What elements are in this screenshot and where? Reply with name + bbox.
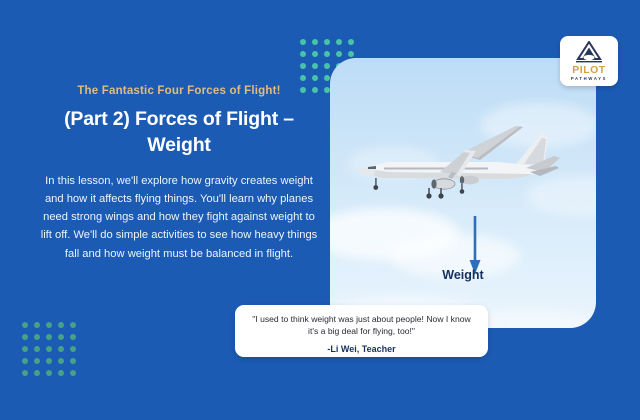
- dot: [46, 346, 52, 352]
- dot: [324, 51, 330, 57]
- testimonial-author: -Li Wei, Teacher: [249, 344, 474, 354]
- dot: [300, 75, 306, 81]
- dot: [22, 358, 28, 364]
- airplane-icon: [348, 120, 560, 206]
- dot: [324, 39, 330, 45]
- dot: [22, 370, 28, 376]
- weight-annotation-label: Weight: [330, 268, 596, 282]
- dot: [58, 346, 64, 352]
- dot: [22, 322, 28, 328]
- lesson-description: In this lesson, we'll explore how gravit…: [38, 172, 320, 263]
- dot: [312, 51, 318, 57]
- dot: [46, 334, 52, 340]
- brand-logo-badge[interactable]: PILOT PATHWAYS: [560, 36, 618, 86]
- dot: [300, 51, 306, 57]
- text-column: The Fantastic Four Forces of Flight! (Pa…: [38, 84, 320, 263]
- dot: [70, 358, 76, 364]
- dot: [34, 322, 40, 328]
- mountain-triangle-icon: [574, 41, 604, 64]
- dot: [58, 370, 64, 376]
- dot: [46, 358, 52, 364]
- dot: [58, 334, 64, 340]
- dot: [22, 334, 28, 340]
- slide-canvas: The Fantastic Four Forces of Flight! (Pa…: [0, 0, 640, 420]
- dot: [312, 75, 318, 81]
- dot: [312, 63, 318, 69]
- testimonial-quote: "I used to think weight was just about p…: [249, 313, 474, 338]
- dot: [58, 358, 64, 364]
- dot: [70, 334, 76, 340]
- dot: [348, 51, 354, 57]
- dot: [336, 39, 342, 45]
- dot: [22, 346, 28, 352]
- dot: [34, 346, 40, 352]
- weight-arrow-icon: [468, 216, 482, 276]
- dot: [312, 39, 318, 45]
- dot-grid-bottom-decoration: [22, 322, 76, 376]
- dot: [324, 63, 330, 69]
- testimonial-card: "I used to think weight was just about p…: [235, 305, 488, 357]
- dot: [324, 75, 330, 81]
- eyebrow-text: The Fantastic Four Forces of Flight!: [38, 84, 320, 98]
- logo-wordmark: PILOT: [572, 65, 605, 76]
- dot: [336, 51, 342, 57]
- dot: [70, 322, 76, 328]
- dot: [70, 346, 76, 352]
- airplane-image-panel: Weight: [330, 58, 596, 328]
- page-title: (Part 2) Forces of Flight – Weight: [38, 107, 320, 158]
- dot: [46, 370, 52, 376]
- dot: [34, 334, 40, 340]
- dot: [300, 39, 306, 45]
- dot: [34, 370, 40, 376]
- dot: [58, 322, 64, 328]
- dot: [46, 322, 52, 328]
- dot: [348, 39, 354, 45]
- logo-subtext: PATHWAYS: [571, 77, 607, 81]
- dot: [70, 370, 76, 376]
- dot: [34, 358, 40, 364]
- dot: [300, 63, 306, 69]
